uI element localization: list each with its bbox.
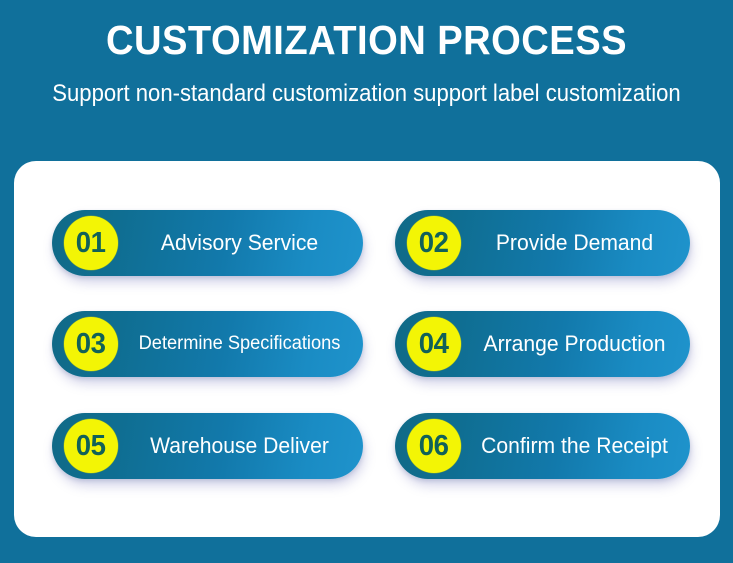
step-number-02: 02 — [419, 229, 449, 258]
step-number-01: 01 — [76, 229, 106, 258]
step-item-01[interactable]: 01 Advisory Service — [52, 210, 363, 276]
step-label-02: Provide Demand — [473, 230, 676, 256]
step-item-04[interactable]: 04 Arrange Production — [395, 311, 690, 377]
step-badge-05: 05 — [64, 419, 118, 473]
step-badge-04: 04 — [407, 317, 461, 371]
step-label-01: Advisory Service — [131, 230, 349, 256]
step-number-05: 05 — [76, 432, 106, 461]
step-item-06[interactable]: 06 Confirm the Receipt — [395, 413, 690, 479]
step-label-06: Confirm the Receipt — [473, 433, 676, 459]
step-label-03: Determine Specifications — [131, 331, 349, 357]
step-number-03: 03 — [76, 330, 106, 359]
customization-process-infographic: CUSTOMIZATION PROCESS Support non-standa… — [0, 0, 733, 563]
step-number-06: 06 — [419, 432, 449, 461]
step-item-02[interactable]: 02 Provide Demand — [395, 210, 690, 276]
step-badge-03: 03 — [64, 317, 118, 371]
steps-grid: 01 Advisory Service 02 Provide Demand 03… — [0, 0, 733, 563]
step-badge-02: 02 — [407, 216, 461, 270]
step-badge-01: 01 — [64, 216, 118, 270]
step-number-04: 04 — [419, 330, 449, 359]
step-item-03[interactable]: 03 Determine Specifications — [52, 311, 363, 377]
step-badge-06: 06 — [407, 419, 461, 473]
step-label-05: Warehouse Deliver — [131, 433, 349, 459]
step-label-04: Arrange Production — [473, 331, 676, 357]
step-item-05[interactable]: 05 Warehouse Deliver — [52, 413, 363, 479]
